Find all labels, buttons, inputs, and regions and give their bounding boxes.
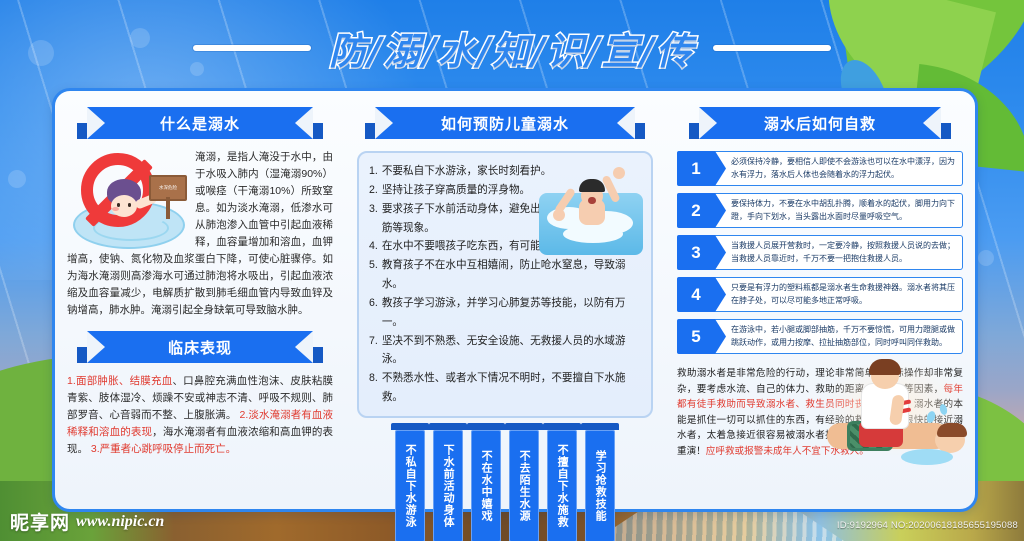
step-number: 5 bbox=[677, 319, 715, 354]
step-item: 1 必须保持冷静，要相信人即使不会游泳也可以在水中漂浮，因为水有浮力，落水后人体… bbox=[677, 151, 963, 186]
child-hair bbox=[579, 179, 605, 192]
ribbon-body: 什么是溺水 bbox=[87, 107, 313, 139]
warning-sign-text: 水深危险 bbox=[159, 186, 177, 191]
vertical-banner[interactable]: 不去陌生水源 bbox=[509, 430, 539, 541]
site-watermark: 昵享网 www.nipic.cn bbox=[10, 508, 164, 535]
step-number: 1 bbox=[677, 151, 715, 186]
vertical-banner[interactable]: 不擅自下水施救 bbox=[547, 430, 577, 541]
section-title-left: 什么是溺水 bbox=[160, 113, 240, 134]
title-dash-right bbox=[713, 45, 831, 51]
poster-title-bar: 防/溺/水/知/识/宣/传 bbox=[0, 18, 1024, 78]
child-hand-left bbox=[553, 209, 565, 221]
child-face bbox=[111, 195, 137, 217]
page-title: 防/溺/水/知/识/宣/传 bbox=[329, 21, 695, 75]
item-number: 5. bbox=[369, 256, 378, 294]
title-dash-left bbox=[193, 45, 311, 51]
vertical-slogan-banners: 不私自下水游泳 下水前活动身体 不在水中嬉戏 不去陌生水源 不擅自下水施救 学习… bbox=[357, 430, 653, 541]
prevention-list-box: 1.不要私自下水游泳，家长时刻看护。 2.坚持让孩子穿高质量的浮身物。 3.要求… bbox=[357, 151, 653, 418]
item-number: 8. bbox=[369, 369, 378, 407]
bokeh-dot bbox=[8, 170, 26, 188]
item-number: 7. bbox=[369, 332, 378, 370]
column-what-is-drowning: 什么是溺水 水深危险 淹溺，是指人淹没于水中，由于水吸入肺内（湿淹溺90%）或 bbox=[55, 91, 345, 509]
ribbon-body: 临床表现 bbox=[87, 331, 313, 363]
section-title-right: 溺水后如何自救 bbox=[764, 113, 876, 134]
column-prevention: 如何预防儿童溺水 bbox=[345, 91, 665, 509]
vertical-banner[interactable]: 不私自下水游泳 bbox=[395, 430, 425, 541]
ribbon-self-rescue: 溺水后如何自救 bbox=[689, 107, 951, 141]
cpr-rescue-illustration bbox=[819, 347, 969, 465]
step-number: 2 bbox=[677, 193, 715, 228]
water-puddle bbox=[901, 449, 953, 465]
step-number: 4 bbox=[677, 277, 715, 312]
vertical-banner[interactable]: 不在水中嬉戏 bbox=[471, 430, 501, 541]
item-text: 不熟悉水性、或者水下情况不明时，不要擅自下水施救。 bbox=[382, 369, 641, 407]
item-number: 4. bbox=[369, 237, 378, 256]
step-text: 只要是有浮力的塑料瓶都是溺水者生命救援神器。溺水者将其压在脖子处，可以尽可能多地… bbox=[715, 277, 963, 312]
step-text: 必须保持冷静，要相信人即使不会游泳也可以在水中漂浮，因为水有浮力，落水后人体也会… bbox=[715, 151, 963, 186]
ribbon-body: 如何预防儿童溺水 bbox=[375, 107, 635, 139]
list-item: 6.教孩子学习游泳，并学习心肺复苏等技能，以防有万一。 bbox=[369, 294, 641, 332]
clinical-list: 1.面部肿胀、结膜充血、口鼻腔充满血性泡沫、皮肤粘膜青紫、肢体湿冷、烦躁不安或神… bbox=[67, 373, 333, 458]
clinical-item-3-highlight: 3.严重者心跳呼吸停止而死亡。 bbox=[91, 443, 236, 455]
column-self-rescue: 溺水后如何自救 1 必须保持冷静，要相信人即使不会游泳也可以在水中漂浮，因为水有… bbox=[665, 91, 975, 509]
item-text: 不要私自下水游泳，家长时刻看护。 bbox=[382, 162, 552, 181]
ribbon-clinical-manifestations: 临床表现 bbox=[77, 331, 323, 365]
child-cheek bbox=[112, 207, 119, 211]
item-number: 2. bbox=[369, 181, 378, 200]
step-item: 3 当救援人员展开营救时，一定要冷静，按照救援人员说的去做；当救援人员靠近时，千… bbox=[677, 235, 963, 270]
step-item: 2 要保持体力，不要在水中胡乱扑腾，顺着水的起伏，脚用力向下蹬，手向下划水，当头… bbox=[677, 193, 963, 228]
closing-paragraph: 救助溺水者是非常危险的行动，理论非常简单但实际操作却非常复杂，要考虑水流、自己的… bbox=[677, 366, 963, 459]
item-text: 坚决不到不熟悉、无安全设施、无救援人员的水域游泳。 bbox=[382, 332, 641, 370]
poster-canvas: 防/溺/水/知/识/宣/传 什么是溺水 bbox=[0, 0, 1024, 541]
site-url: www.nipic.cn bbox=[76, 513, 164, 531]
section-title-middle: 如何预防儿童溺水 bbox=[441, 113, 569, 134]
section-title-clinical: 临床表现 bbox=[168, 337, 232, 358]
step-number: 3 bbox=[677, 235, 715, 270]
self-rescue-steps: 1 必须保持冷静，要相信人即使不会游泳也可以在水中漂浮，因为水有浮力，落水后人体… bbox=[677, 151, 963, 354]
intro-paragraph-wrapper: 水深危险 淹溺，是指人淹没于水中，由于水吸入肺内（湿淹溺90%）或喉痉（干淹溺1… bbox=[67, 149, 333, 319]
ribbon-body: 溺水后如何自救 bbox=[699, 107, 941, 139]
bokeh-dot bbox=[978, 250, 994, 266]
child-hand-right bbox=[613, 167, 625, 179]
asset-id-label: ID:9192964 NO:20200618185655195088 bbox=[837, 520, 1018, 531]
site-logo-text: 昵享网 bbox=[10, 508, 70, 535]
drowning-child-illustration bbox=[539, 161, 643, 255]
item-text: 坚持让孩子穿高质量的浮身物。 bbox=[382, 181, 530, 200]
item-number: 1. bbox=[369, 162, 378, 181]
rescuer-hair bbox=[869, 359, 901, 375]
no-swimming-sign-illustration: 水深危险 bbox=[67, 151, 187, 247]
item-text: 教孩子学习游泳，并学习心肺复苏等技能，以防有万一。 bbox=[382, 294, 641, 332]
vertical-banner[interactable]: 下水前活动身体 bbox=[433, 430, 463, 541]
list-item: 5.教育孩子不在水中互相嬉闹，防止呛水窒息，导致溺水。 bbox=[369, 256, 641, 294]
step-item: 4 只要是有浮力的塑料瓶都是溺水者生命救援神器。溺水者将其压在脖子处，可以尽可能… bbox=[677, 277, 963, 312]
clinical-item-1-highlight: 1.面部肿胀、结膜充血 bbox=[67, 375, 172, 387]
ribbon-what-is-drowning: 什么是溺水 bbox=[77, 107, 323, 141]
ribbon-prevention: 如何预防儿童溺水 bbox=[365, 107, 645, 141]
content-panel: 什么是溺水 水深危险 淹溺，是指人淹没于水中，由于水吸入肺内（湿淹溺90%）或 bbox=[52, 88, 978, 512]
list-item: 8.不熟悉水性、或者水下情况不明时，不要擅自下水施救。 bbox=[369, 369, 641, 407]
list-item: 7.坚决不到不熟悉、无安全设施、无救援人员的水域游泳。 bbox=[369, 332, 641, 370]
child-mouth bbox=[588, 197, 596, 204]
foam-shape bbox=[563, 225, 623, 243]
victim-hair bbox=[937, 423, 967, 437]
step-text: 当救援人员展开营救时，一定要冷静，按照救援人员说的去做；当救援人员靠近时，千万不… bbox=[715, 235, 963, 270]
item-number: 3. bbox=[369, 200, 378, 238]
step-text: 要保持体力，不要在水中胡乱扑腾，顺着水的起伏，脚用力向下蹬，手向下划水，当头露出… bbox=[715, 193, 963, 228]
warning-sign-icon: 水深危险 bbox=[149, 175, 187, 201]
item-text: 教育孩子不在水中互相嬉闹，防止呛水窒息，导致溺水。 bbox=[382, 256, 641, 294]
vertical-banner[interactable]: 学习抢救技能 bbox=[585, 430, 615, 541]
item-number: 6. bbox=[369, 294, 378, 332]
